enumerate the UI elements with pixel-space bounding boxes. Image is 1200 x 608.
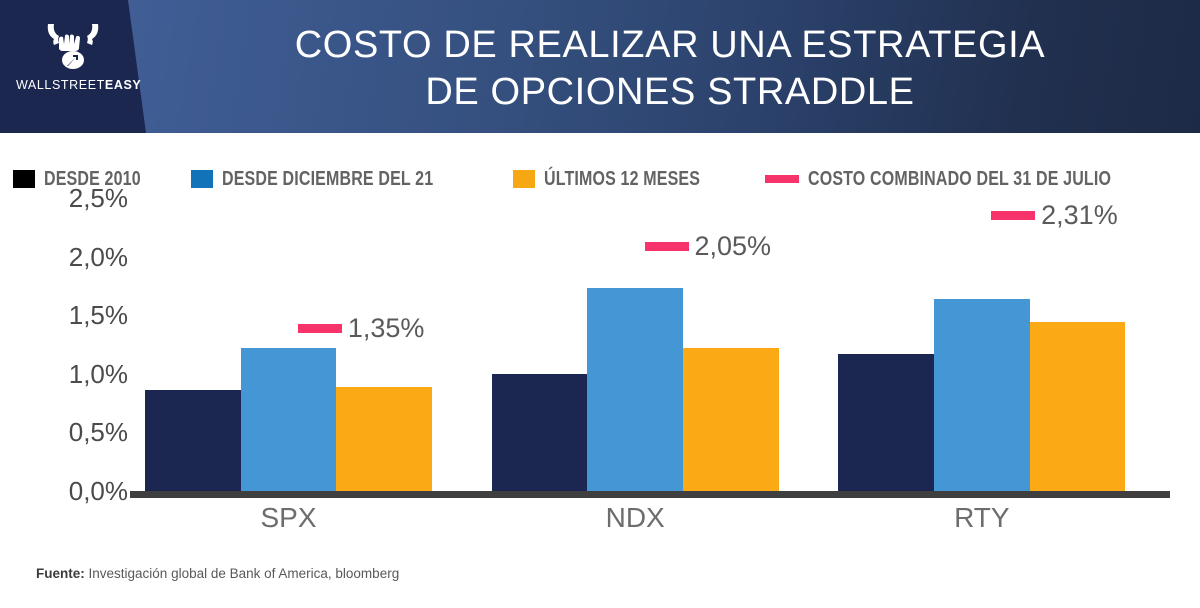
plot-area: 1,35%SPX2,05%NDX2,31%RTY: [130, 198, 1170, 498]
bar: [683, 348, 779, 491]
y-axis-tick-label: 0,5%: [18, 419, 128, 445]
bull-head-icon: [42, 22, 104, 74]
y-axis-tick-label: 2,0%: [18, 244, 128, 270]
brand-logo-text: WALLSTREETEASY: [16, 78, 128, 92]
source-note: Fuente: Investigación global de Bank of …: [36, 565, 399, 583]
bar: [934, 299, 1030, 491]
bar: [838, 354, 934, 491]
bar-chart: 2,5%2,0%1,5%1,0%0,5%0,0% 1,35%SPX2,05%ND…: [0, 198, 1200, 558]
page-title-line-1: COSTO DE REALIZAR UNA ESTRATEGIA: [150, 22, 1190, 69]
legend-label: COSTO COMBINADO DEL 31 DE JULIO: [808, 169, 1111, 189]
page-title: COSTO DE REALIZAR UNA ESTRATEGIA DE OPCI…: [150, 22, 1190, 116]
x-axis-category-label: NDX: [492, 504, 779, 532]
brand-logo: WALLSTREETEASY: [16, 22, 128, 110]
source-label: Fuente:: [36, 566, 85, 581]
x-axis-category-label: RTY: [838, 504, 1125, 532]
page-title-line-2: DE OPCIONES STRADDLE: [150, 69, 1190, 116]
legend-item: DESDE DICIEMBRE DEL 21: [191, 169, 486, 189]
brand-name-bold: EASY: [105, 78, 141, 92]
brand-name-regular: WALLSTREET: [16, 78, 105, 92]
legend-swatch-icon: [765, 175, 799, 183]
y-axis: 2,5%2,0%1,5%1,0%0,5%0,0%: [18, 198, 128, 498]
legend-item: ÚLTIMOS 12 MESES: [513, 169, 739, 189]
y-axis-tick-label: 0,0%: [18, 478, 128, 504]
x-axis-category-label: SPX: [145, 504, 432, 532]
legend-label: ÚLTIMOS 12 MESES: [544, 169, 700, 189]
source-text: Investigación global de Bank of America,…: [89, 566, 400, 581]
legend-swatch-icon: [513, 170, 535, 188]
bar: [336, 387, 432, 491]
legend-swatch-icon: [191, 170, 213, 188]
y-axis-tick-label: 1,5%: [18, 302, 128, 328]
header-banner: WALLSTREETEASY COSTO DE REALIZAR UNA EST…: [0, 0, 1200, 133]
y-axis-tick-label: 1,0%: [18, 361, 128, 387]
bar: [492, 374, 588, 491]
legend-label: DESDE DICIEMBRE DEL 21: [222, 169, 433, 189]
x-axis-baseline: [130, 491, 1170, 498]
bar: [587, 288, 683, 491]
chart-legend: DESDE 2010DESDE DICIEMBRE DEL 21ÚLTIMOS …: [0, 160, 1200, 198]
combined-cost-value-label: 2,05%: [694, 233, 771, 260]
bar-group: 2,05%: [492, 198, 779, 491]
combined-cost-marker: [298, 324, 342, 333]
bar: [241, 348, 337, 491]
combined-cost-marker: [645, 242, 689, 251]
combined-cost-value-label: 1,35%: [348, 315, 425, 342]
legend-item: COSTO COMBINADO DEL 31 DE JULIO: [765, 169, 1187, 189]
bar: [1030, 322, 1126, 491]
bar-group: 2,31%: [838, 198, 1125, 491]
bar: [145, 390, 241, 491]
bar-group: 1,35%: [145, 198, 432, 491]
y-axis-tick-label: 2,5%: [18, 185, 128, 211]
infographic-page: WALLSTREETEASY COSTO DE REALIZAR UNA EST…: [0, 0, 1200, 608]
combined-cost-value-label: 2,31%: [1041, 202, 1118, 229]
combined-cost-marker: [991, 211, 1035, 220]
